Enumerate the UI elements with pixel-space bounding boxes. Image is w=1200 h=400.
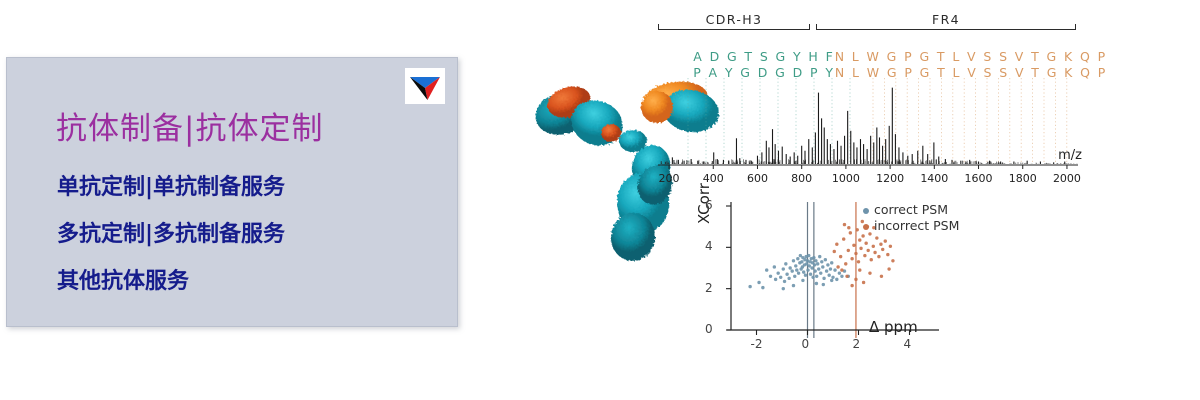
company-logo-chevron-icon (405, 68, 445, 104)
mz-tick-label: 200 (659, 172, 680, 185)
legend-label-correct: correct PSM (874, 202, 948, 217)
mz-tick-label: 1000 (832, 172, 860, 185)
scatter-xtick-label: -2 (751, 337, 763, 351)
mass-spectrum-plot (658, 78, 1078, 166)
mz-tick-label: 2000 (1053, 172, 1081, 185)
legend-dot-incorrect (863, 224, 869, 230)
scatter-ytick-label: 0 (705, 322, 713, 336)
bracket-cap-right (1075, 24, 1076, 30)
scatter-ytick-label: 6 (705, 198, 713, 212)
mz-tick-label: 1200 (876, 172, 904, 185)
promo-link-monoclonal[interactable]: 单抗定制|单抗制备服务 (57, 169, 285, 201)
mz-axis-label: m/z (1058, 148, 1082, 163)
bracket-bar (658, 29, 810, 30)
mz-tick-label: 1600 (965, 172, 993, 185)
bracket-cap-right (809, 24, 810, 30)
antibody-sequencing-figure: CDR-H3 FR4 A D G T S G Y H FN L W G P G … (510, 0, 1200, 400)
region-label-cdrh3: CDR-H3 (658, 12, 810, 27)
bracket-bar (816, 29, 1076, 30)
legend-item-correct-psm: correct PSM (863, 202, 948, 217)
mz-tick-label: 600 (747, 172, 768, 185)
mz-tick-label: 1800 (1009, 172, 1037, 185)
scatter-xtick-label: 2 (853, 337, 861, 351)
sequence-alignment: CDR-H3 FR4 A D G T S G Y H FN L W G P G … (658, 16, 1078, 80)
legend-dot-correct (863, 208, 869, 214)
promo-link-polyclonal[interactable]: 多抗定制|多抗制备服务 (57, 216, 285, 248)
scatter-xtick-label: 0 (802, 337, 810, 351)
region-label-fr4: FR4 (816, 12, 1076, 27)
legend-label-incorrect: incorrect PSM (874, 218, 959, 233)
mz-tick-label: 800 (791, 172, 812, 185)
mz-tick-label: 1400 (920, 172, 948, 185)
promo-link-other-services[interactable]: 其他抗体服务 (57, 263, 189, 295)
mass-spectrum-chart: m/z 200400600800100012001400160018002000 (658, 78, 1078, 186)
scatter-ytick-label: 4 (705, 239, 713, 253)
region-bracket-cdrh3: CDR-H3 (658, 16, 810, 30)
scatter-ytick-label: 2 (705, 281, 713, 295)
xcorr-scatter-chart: XCorr Δ ppm correct PSM incorrect PSM 02… (685, 196, 945, 366)
region-bracket-fr4: FR4 (816, 16, 1076, 30)
scatter-xtick-label: 4 (904, 337, 912, 351)
bracket-cap-left (816, 24, 817, 30)
scatter-xlabel: Δ ppm (869, 318, 918, 336)
bracket-cap-left (658, 24, 659, 30)
page-title: 抗体制备|抗体定制 (56, 103, 323, 148)
antibody-service-promo-panel: 抗体制备|抗体定制 单抗定制|单抗制备服务 多抗定制|多抗制备服务 其他抗体服务 (6, 57, 458, 327)
legend-item-incorrect-psm: incorrect PSM (863, 218, 959, 233)
